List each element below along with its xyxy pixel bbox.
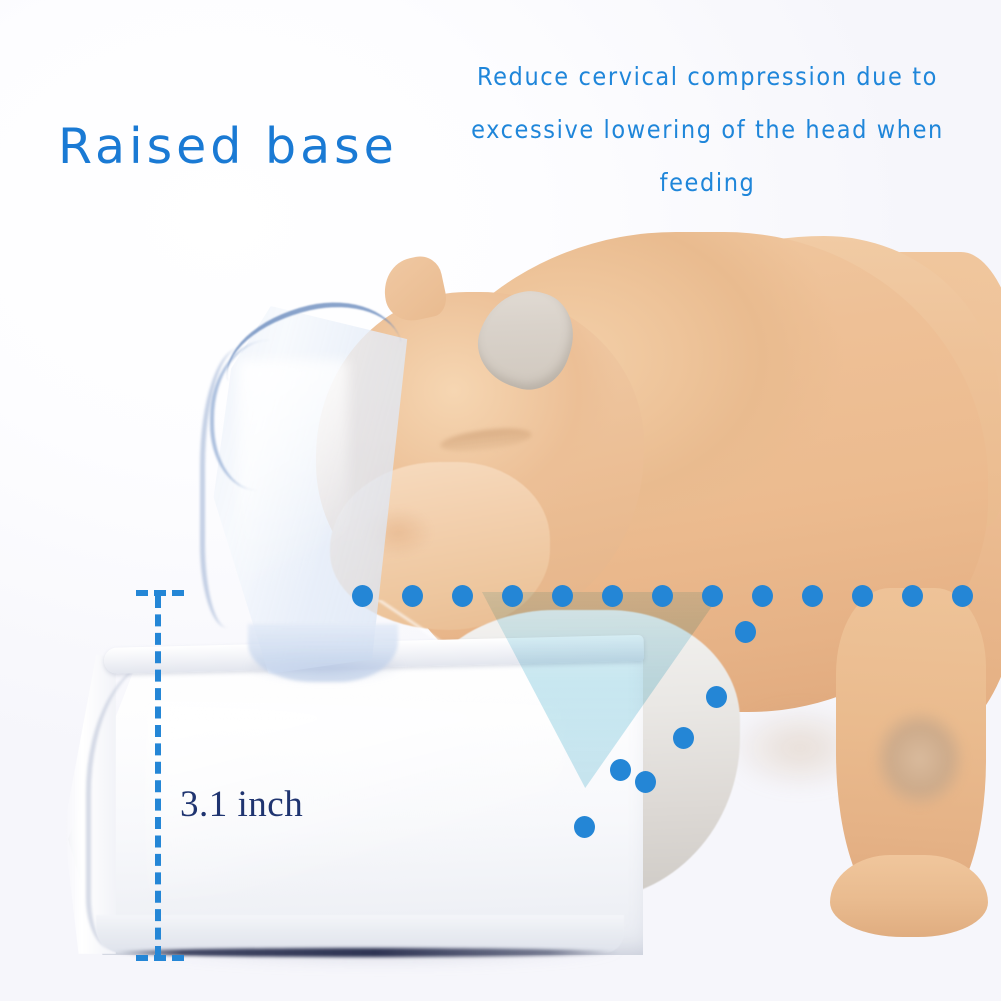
transparent-pet-bowl: [196, 306, 416, 674]
guide-dot: [352, 585, 373, 607]
height-measurement-label: 3.1 inch: [180, 783, 303, 826]
guide-dot: [752, 585, 773, 607]
height-dimension-line: [155, 596, 161, 958]
guide-dot: [574, 816, 595, 838]
guide-dot: [673, 727, 694, 749]
page-headline: Raised base: [58, 118, 398, 175]
guide-dot: [952, 585, 973, 607]
guide-dot: [702, 585, 723, 607]
guide-dot: [502, 585, 523, 607]
subtitle-line-1: Reduce cervical compression due to: [430, 50, 985, 103]
height-tick-bottom: [136, 955, 184, 961]
guide-dot: [652, 585, 673, 607]
guide-dot: [552, 585, 573, 607]
cat-tail: [868, 706, 980, 826]
subtitle-line-2: excessive lowering of the head when: [430, 103, 985, 156]
page-subtitle: Reduce cervical compression due to exces…: [430, 50, 985, 209]
product-marketing-image: 3.1 inch Raised base Reduce cervical com…: [0, 0, 1001, 1001]
guide-dot: [452, 585, 473, 607]
guide-dot: [735, 621, 756, 643]
guide-dot: [852, 585, 873, 607]
guide-dot: [602, 585, 623, 607]
subtitle-line-3: feeding: [430, 156, 985, 209]
bowl-stand-contact-shadow: [112, 948, 620, 957]
guide-dot: [706, 686, 727, 708]
guide-dot: [635, 771, 656, 793]
guide-dot: [610, 759, 631, 781]
guide-dot: [902, 585, 923, 607]
guide-dot: [402, 585, 423, 607]
cat-paw: [830, 855, 988, 937]
guide-dot: [802, 585, 823, 607]
